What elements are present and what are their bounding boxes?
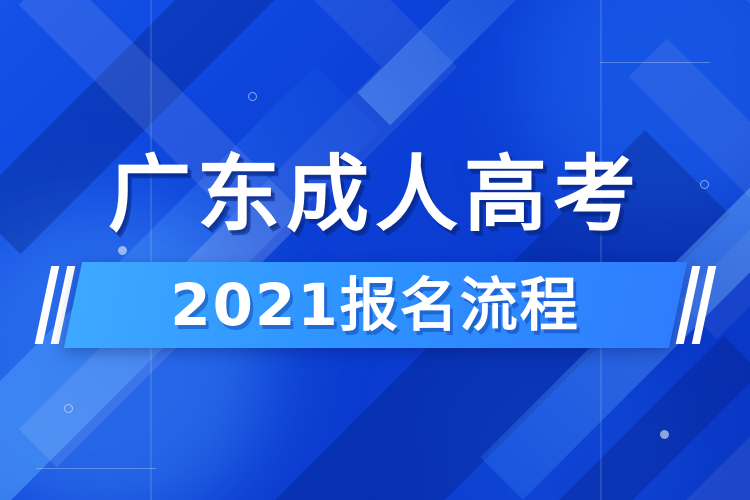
page-title: 广东成人高考 bbox=[108, 153, 642, 236]
subtitle-band: 2021报名流程 bbox=[73, 262, 678, 348]
banner-content: 广东成人高考 2021报名流程 bbox=[0, 0, 750, 500]
subtitle-text: 2021报名流程 bbox=[170, 276, 579, 334]
promo-banner: 广东成人高考 2021报名流程 bbox=[0, 0, 750, 500]
